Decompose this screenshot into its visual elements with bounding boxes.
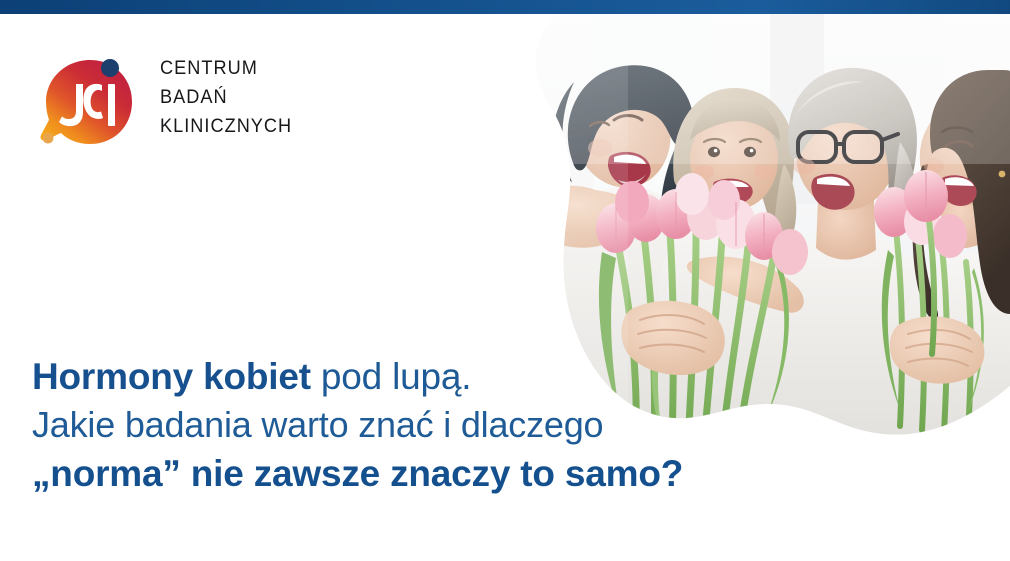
promo-banner: CENTRUM BADAŃ KLINICZNYCH Hormony kobiet… [0,0,1010,561]
headline-line-1: Hormony kobiet pod lupą. [32,352,792,401]
brand-name-line-1: CENTRUM [160,54,327,83]
headline-line-1-bold: Hormony kobiet [32,356,311,397]
top-accent-bar [0,0,1010,14]
brand-name: CENTRUM BADAŃ KLINICZNYCH [160,54,340,141]
headline-block: Hormony kobiet pod lupą. Jakie badania w… [32,352,792,499]
small-dot-icon [42,132,54,144]
accent-dot-icon [100,58,120,78]
brand-name-line-3: KLINICZNYCH [160,112,327,141]
headline-line-1-regular: pod lupą. [311,356,472,397]
headline-line-2: Jakie badania warto znać i dlaczego [32,401,792,449]
headline-line-3: „norma” nie zawsze znaczy to samo? [32,449,792,499]
brand-name-line-2: BADAŃ [160,83,327,112]
brand-logo[interactable]: CENTRUM BADAŃ KLINICZNYCH [38,52,298,152]
